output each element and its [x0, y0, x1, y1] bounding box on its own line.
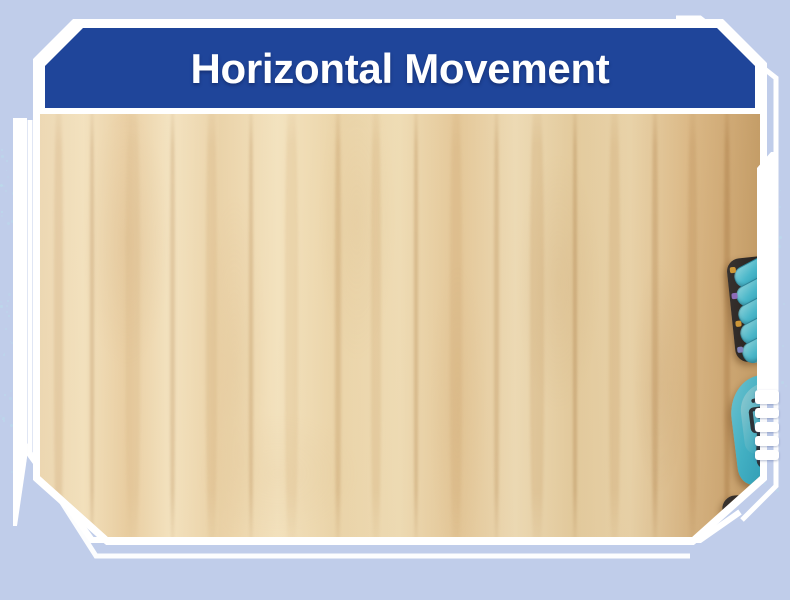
speckle-dot — [778, 245, 781, 248]
speckle-dot — [780, 190, 781, 191]
speckle-dot — [776, 489, 779, 492]
rc-stunt-car — [705, 254, 760, 537]
speckle-dot — [2, 419, 3, 420]
speckle-dot — [6, 311, 8, 313]
speckle-dot — [764, 483, 766, 485]
level-tick — [755, 390, 779, 404]
speckle-dot — [0, 305, 3, 308]
speckle-dot — [1, 149, 3, 151]
speckle-dot — [782, 345, 784, 347]
speckle-dot — [766, 487, 767, 488]
speckle-dot — [779, 206, 781, 208]
speckle-dot — [3, 420, 5, 422]
speckle-dot — [778, 187, 779, 188]
speckle-dot — [773, 474, 775, 476]
speckle-dot — [6, 305, 8, 307]
speckle-dot — [779, 239, 780, 240]
speckle-dot — [785, 385, 787, 387]
speckle-dot — [10, 424, 13, 427]
level-tick — [755, 422, 779, 432]
speckle-dot — [1, 155, 4, 158]
wheel-nut — [735, 320, 742, 327]
right-edge-accent-bar — [757, 152, 777, 390]
level-tick — [755, 450, 779, 460]
speckle-dot — [9, 397, 12, 400]
speckle-dot — [0, 415, 2, 417]
level-tick — [755, 408, 779, 418]
speckle-dot — [6, 170, 7, 171]
wheel-nut — [730, 267, 737, 274]
speckle-dot — [8, 293, 11, 296]
speckle-dot — [7, 222, 10, 225]
speckle-dot — [5, 328, 7, 330]
speckle-dot — [779, 236, 782, 239]
wheel-nut — [726, 534, 732, 537]
wheel-roller — [727, 509, 760, 537]
left-edge-accent-bar — [13, 118, 27, 526]
speckle-dot — [1, 211, 3, 213]
speckle-dot — [2, 417, 5, 420]
speckle-dot — [10, 390, 12, 392]
speckle-dot — [0, 301, 2, 303]
speckle-dot — [770, 490, 772, 492]
speckle-dot — [6, 160, 8, 162]
screen: Horizontal Movement — [0, 0, 790, 600]
speckle-dot — [0, 184, 3, 187]
level-tick — [755, 436, 779, 446]
speckle-dot — [783, 303, 785, 305]
title-banner: Horizontal Movement — [45, 28, 755, 110]
scene-photo — [40, 114, 760, 537]
speckle-dot — [7, 300, 9, 302]
speckle-dot — [11, 471, 13, 473]
mecanum-wheel-front — [726, 253, 760, 363]
speckle-dot — [3, 185, 5, 187]
speckle-dot — [8, 315, 10, 317]
speckle-dot — [1, 211, 3, 213]
speckle-dot — [1, 215, 3, 217]
page-title: Horizontal Movement — [191, 48, 610, 90]
wheel-nut — [737, 346, 744, 353]
speckle-dot — [10, 341, 11, 342]
speckle-dot — [781, 381, 784, 384]
wood-floor — [40, 114, 760, 537]
wheel-nut — [731, 293, 738, 300]
wheel-roller — [728, 528, 760, 537]
level-indicator-ticks — [755, 394, 781, 462]
speckle-dot — [3, 354, 5, 356]
speckle-dot — [7, 176, 9, 178]
speckle-dot — [4, 353, 5, 354]
speckle-dot — [5, 190, 7, 192]
speckle-dot — [11, 342, 13, 344]
speckle-dot — [4, 394, 6, 396]
